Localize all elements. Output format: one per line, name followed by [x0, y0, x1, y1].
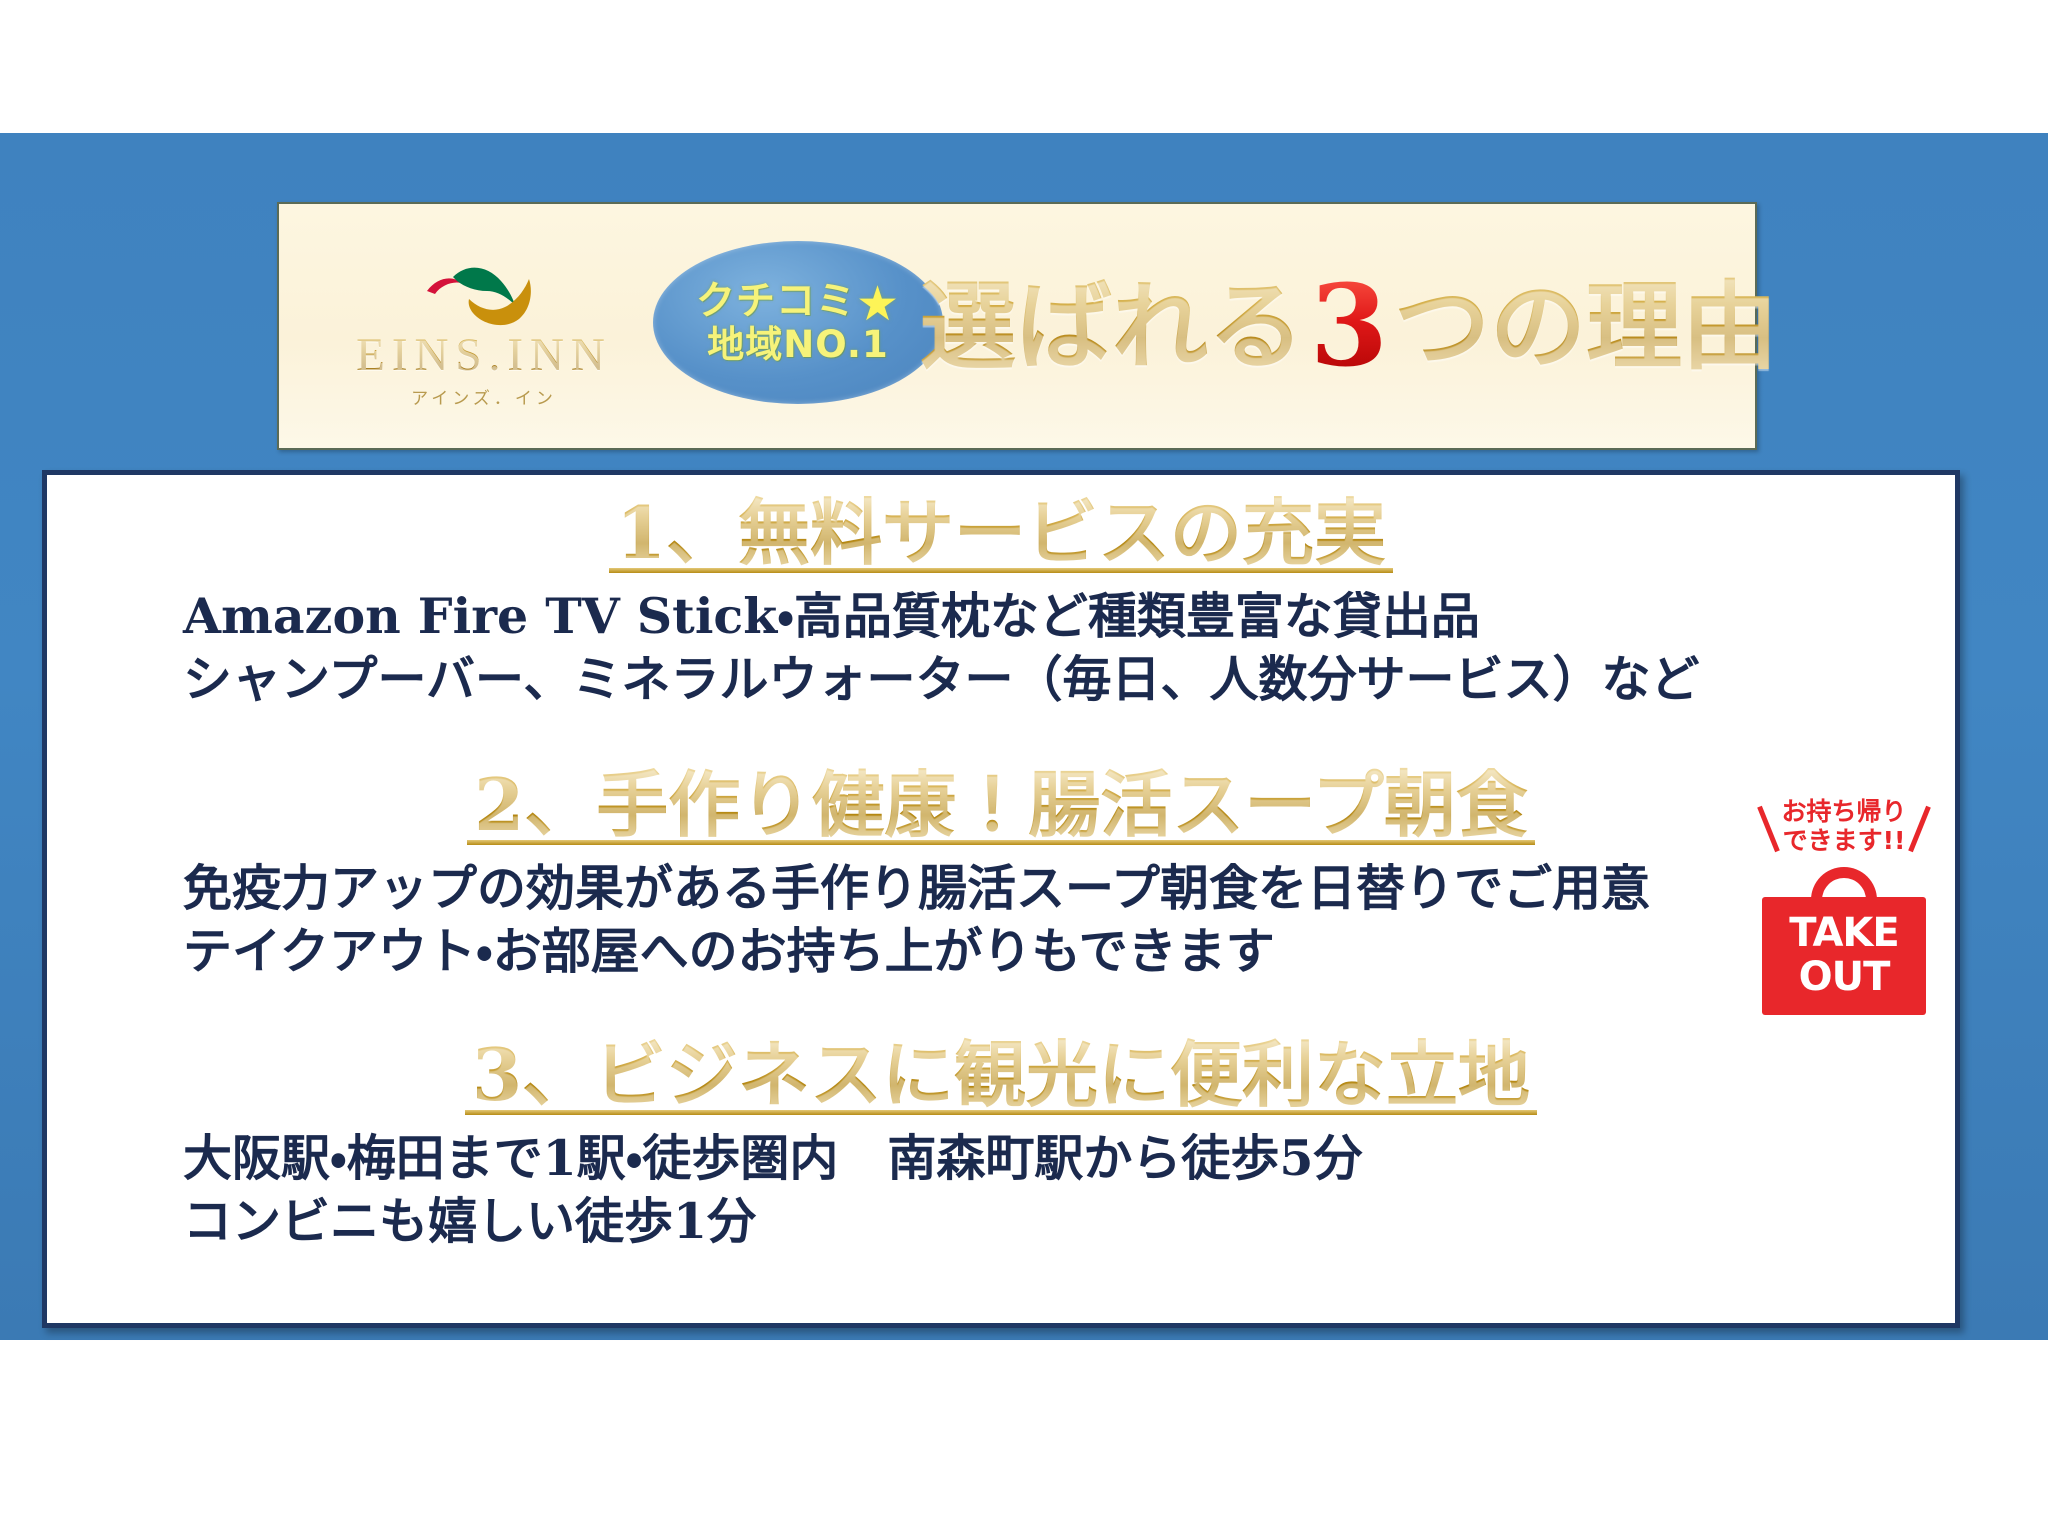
section-1-line-1: Amazon Fire TV Stick・高品質枕など種類豊富な貸出品	[183, 585, 1955, 649]
page-title: 選ばれる3つの理由	[969, 252, 1729, 402]
section-2-underline	[467, 840, 1535, 845]
review-rank-badge: クチコミ★ 地域NO.1	[653, 241, 943, 404]
section-2-heading-wrap: 2、手作り健康！腸活スープ朝食	[47, 765, 1955, 845]
section-2: 2、手作り健康！腸活スープ朝食 免疫力アップの効果がある手作り腸活スープ朝食を日…	[47, 765, 1955, 984]
content-panel: 1、無料サービスの充実 Amazon Fire TV Stick・高品質枕など種…	[42, 470, 1960, 1328]
takeout-word-2: OUT	[1799, 957, 1890, 999]
section-3-underline	[465, 1110, 1537, 1115]
badge-line-2: 地域NO.1	[707, 326, 888, 363]
takeout-caption-line-2: できます!!	[1774, 828, 1914, 854]
bird-swoosh-logo-icon	[409, 247, 559, 329]
section-1: 1、無料サービスの充実 Amazon Fire TV Stick・高品質枕など種…	[47, 493, 1955, 712]
section-1-heading: 1、無料サービスの充実	[616, 493, 1386, 574]
bag-body: TAKE OUT	[1762, 897, 1926, 1015]
section-3: 3、ビジネスに観光に便利な立地 大阪駅・梅田まで1駅・徒歩圏内 南森町駅から徒歩…	[47, 1035, 1955, 1254]
brand-logo: EINS.INN アインズ．イン	[319, 214, 649, 442]
badge-kuchikomi-text: クチコミ	[696, 279, 856, 324]
section-3-heading: 3、ビジネスに観光に便利な立地	[472, 1035, 1530, 1116]
section-1-heading-wrap: 1、無料サービスの充実	[47, 493, 1955, 573]
section-1-underline	[609, 568, 1393, 573]
star-icon: ★	[856, 285, 900, 323]
section-3-line-2: コンビニも嬉しい徒歩1分	[183, 1190, 1955, 1254]
section-2-heading: 2、手作り健康！腸活スープ朝食	[474, 765, 1528, 846]
takeout-word-1: TAKE	[1789, 913, 1898, 955]
takeout-caption-line-1: お持ち帰り	[1774, 799, 1914, 825]
section-3-line-1: 大阪駅・梅田まで1駅・徒歩圏内 南森町駅から徒歩5分	[183, 1127, 1955, 1191]
takeout-badge: お持ち帰り できます!! TAKE OUT	[1753, 795, 1935, 1017]
brand-wordmark: EINS.INN	[356, 331, 612, 380]
brand-subtext: アインズ．イン	[411, 384, 557, 409]
title-post-text: つの理由	[1394, 272, 1778, 382]
title-number: 3	[1304, 263, 1394, 392]
header-banner: EINS.INN アインズ．イン クチコミ★ 地域NO.1 選ばれる3つの理由	[277, 202, 1757, 450]
badge-line-1: クチコミ★	[696, 282, 900, 323]
section-3-heading-wrap: 3、ビジネスに観光に便利な立地	[47, 1035, 1955, 1115]
takeout-badge-caption: お持ち帰り できます!!	[1753, 795, 1935, 867]
slide-root: EINS.INN アインズ．イン クチコミ★ 地域NO.1 選ばれる3つの理由 …	[0, 0, 2048, 1536]
section-1-line-2: シャンプーバー、ミネラルウォーター（毎日、人数分サービス）など	[183, 648, 1955, 712]
shopping-bag-icon: TAKE OUT	[1762, 867, 1926, 1015]
section-2-line-1: 免疫力アップの効果がある手作り腸活スープ朝食を日替りでご用意	[183, 857, 1955, 921]
title-pre-text: 選ばれる	[920, 272, 1304, 382]
section-2-line-2: テイクアウト・お部屋へのお持ち上がりもできます	[183, 920, 1955, 984]
